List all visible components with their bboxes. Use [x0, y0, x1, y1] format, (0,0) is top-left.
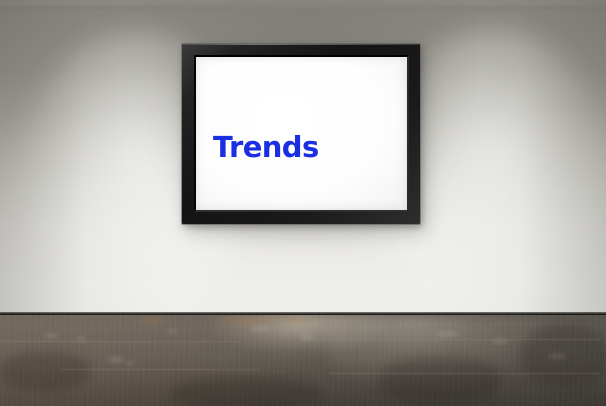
frame-inner-bevel: Trends of the Present Past	[194, 55, 409, 212]
floor-stain	[128, 316, 176, 325]
floor-seam-line	[60, 369, 260, 370]
frame-top-highlight	[183, 44, 419, 45]
floor-scuff-mark	[108, 357, 124, 363]
floor-seam-line	[300, 339, 600, 340]
floor-seam-line	[0, 341, 240, 342]
floor-scuff-mark	[436, 331, 458, 337]
floor-dark-patch	[380, 357, 500, 405]
floor-scuff-mark	[250, 326, 270, 332]
floor-scuff-mark	[166, 329, 178, 333]
floor-dark-patch	[520, 325, 606, 385]
artwork-text-line-1: Trends	[213, 131, 335, 164]
artwork-title-text: Trends of the Present Past	[213, 65, 335, 212]
floor-scuff-mark	[126, 361, 134, 366]
floor-dark-patch	[0, 351, 90, 391]
ceiling-wall-seam	[0, 7, 606, 9]
floor-stain	[278, 315, 318, 325]
floor-seam-line	[330, 373, 600, 374]
floor-scuff-mark	[44, 333, 58, 338]
gallery-scene: Trends of the Present Past	[0, 0, 606, 406]
concrete-floor	[0, 315, 606, 406]
artwork-frame[interactable]: Trends of the Present Past	[182, 44, 420, 224]
floor-dark-patch	[170, 377, 320, 406]
